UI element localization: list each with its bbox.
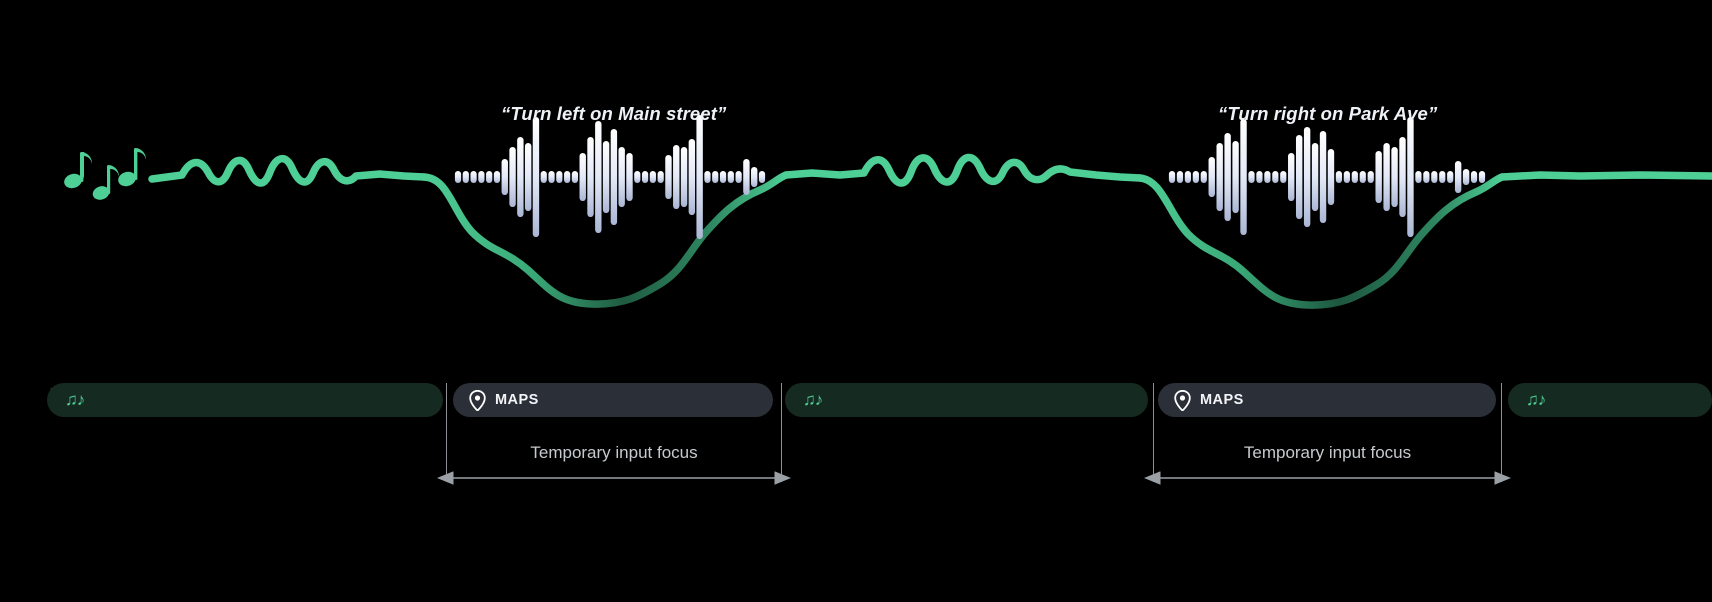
voice-assistant-diagram: “Turn left on Main street” “Turn right o… <box>0 0 1712 602</box>
span-arrow-layer <box>0 0 1712 602</box>
